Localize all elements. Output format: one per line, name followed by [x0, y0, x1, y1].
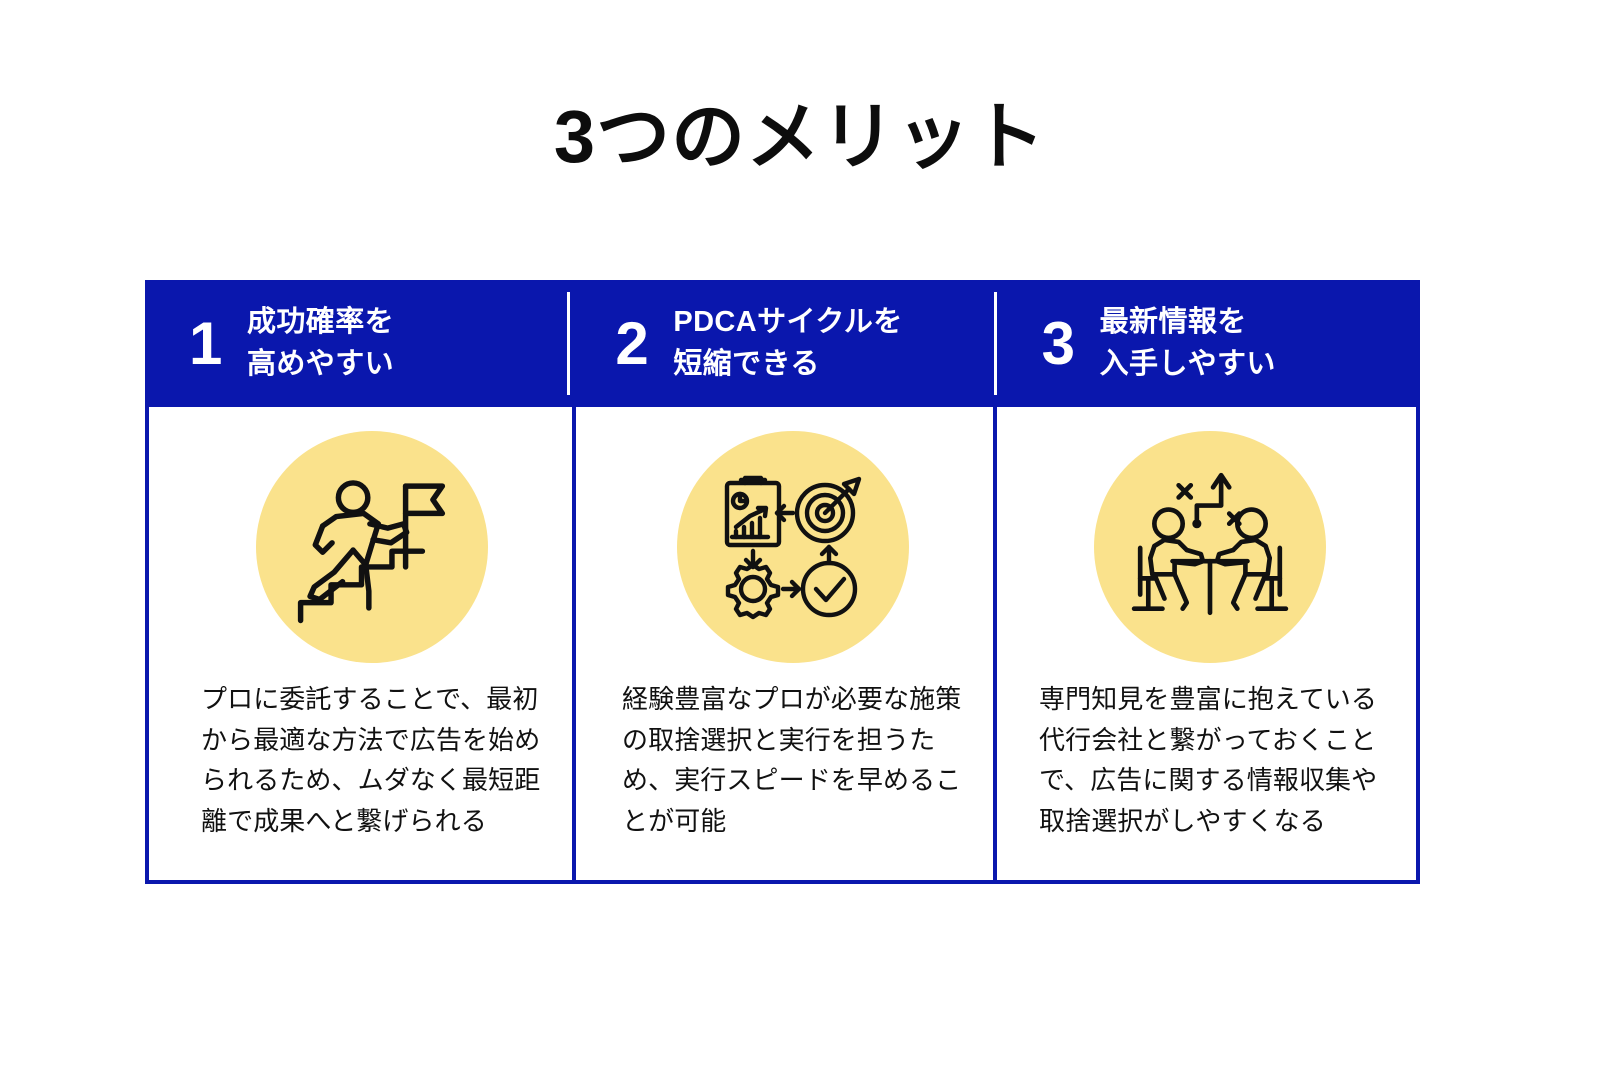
slide-root: 3つのメリット 1 成功確率を 高めやすい 2 PDCAサイクルを 短縮できる … [0, 0, 1600, 1067]
panel-description-1: プロに委託することで、最初から最適な方法で広告を始められるため、ムダなく最短距離… [201, 679, 542, 841]
panel-heading-1-line2: 高めやすい [247, 344, 394, 385]
pdca-cycle-icon [713, 467, 873, 627]
runner-stairs-flag-icon [288, 463, 456, 631]
body-cell-2: 経験豊富なプロが必要な施策の取捨選択と実行を担うため、実行スピードを早めることが… [572, 407, 993, 880]
panel-heading-3: 最新情報を 入手しやすい [1100, 302, 1276, 384]
panel-heading-2-line1: PDCAサイクルを [673, 306, 902, 338]
panel-heading-3-line2: 入手しやすい [1100, 344, 1276, 385]
table-header-row: 1 成功確率を 高めやすい 2 PDCAサイクルを 短縮できる 3 最新情報を … [145, 280, 1420, 407]
icon-circle-2 [677, 431, 909, 663]
panel-description-2: 経験豊富なプロが必要な施策の取捨選択と実行を担うため、実行スピードを早めることが… [622, 679, 963, 841]
header-cell-3: 3 最新情報を 入手しやすい [994, 280, 1420, 407]
panel-heading-3-line1: 最新情報を [1100, 306, 1247, 338]
panel-description-3: 専門知見を豊富に抱えている代行会社と繋がっておくことで、広告に関する情報収集や取… [1039, 679, 1380, 841]
panel-number-2: 2 [615, 314, 673, 374]
panel-heading-1-line1: 成功確率を [247, 306, 394, 338]
panel-heading-1: 成功確率を 高めやすい [247, 302, 394, 384]
table-body-row: プロに委託することで、最初から最適な方法で広告を始められるため、ムダなく最短距離… [145, 407, 1420, 884]
header-cell-1: 1 成功確率を 高めやすい [145, 280, 567, 407]
body-cell-3: 専門知見を豊富に抱えている代行会社と繋がっておくことで、広告に関する情報収集や取… [993, 407, 1416, 880]
panel-number-3: 3 [1042, 314, 1100, 374]
body-cell-1: プロに委託することで、最初から最適な方法で広告を始められるため、ムダなく最短距離… [149, 407, 572, 880]
icon-circle-3 [1094, 431, 1326, 663]
panel-number-1: 1 [189, 314, 247, 374]
page-title: 3つのメリット [0, 96, 1600, 177]
benefits-table: 1 成功確率を 高めやすい 2 PDCAサイクルを 短縮できる 3 最新情報を … [145, 280, 1420, 884]
icon-circle-1 [256, 431, 488, 663]
panel-heading-2: PDCAサイクルを 短縮できる [673, 302, 902, 384]
panel-heading-2-line2: 短縮できる [673, 344, 902, 385]
header-cell-2: 2 PDCAサイクルを 短縮できる [567, 280, 993, 407]
two-people-meeting-strategy-icon [1124, 461, 1296, 633]
